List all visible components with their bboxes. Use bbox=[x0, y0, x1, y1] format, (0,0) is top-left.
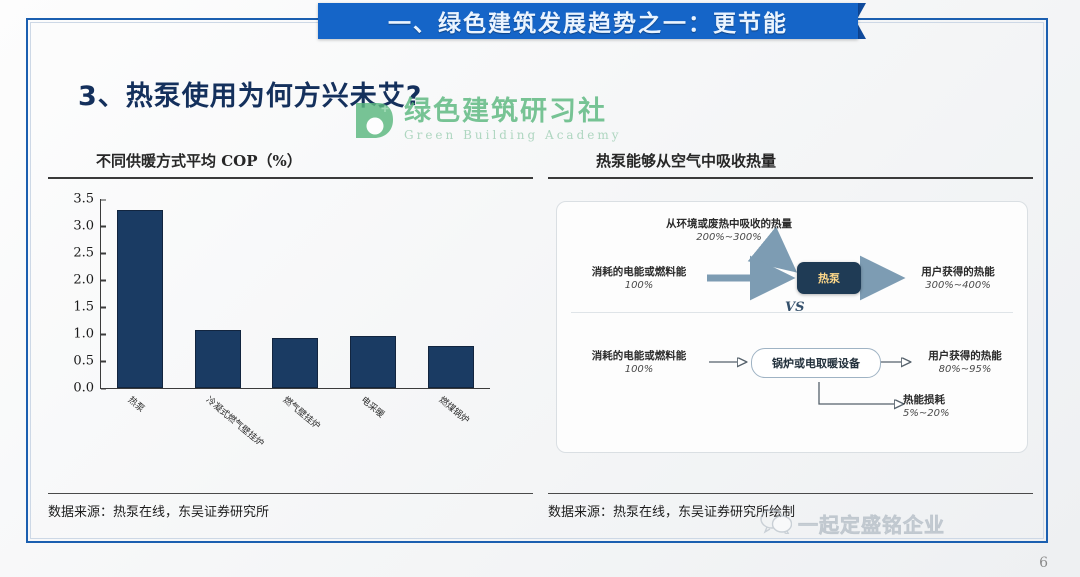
left-panel-footer: 数据来源：热泵在线，东吴证券研究所 bbox=[48, 487, 533, 520]
left-panel: 不同供暖方式平均 COP（%） 0.0 0.5 1.0 1.5 2.0 2.5 … bbox=[48, 150, 533, 520]
x-label-2: 燃气壁挂炉 bbox=[281, 393, 324, 432]
bar-燃气壁挂炉 bbox=[272, 338, 318, 388]
x-label-1: 冷凝式燃气壁挂炉 bbox=[203, 393, 267, 449]
right-source-note: 数据来源：热泵在线，东吴证券研究所绘制 bbox=[548, 501, 1033, 520]
right-panel-footer: 数据来源：热泵在线，东吴证券研究所绘制 bbox=[548, 487, 1033, 520]
page-number: 6 bbox=[1039, 555, 1048, 571]
chart-plot-area: 0.0 0.5 1.0 1.5 2.0 2.5 3.0 3.5 热泵 bbox=[100, 199, 490, 389]
x-label-4: 燃煤锅炉 bbox=[437, 393, 473, 426]
label-heatpump-input: 消耗的电能或燃料能 100% bbox=[569, 264, 709, 291]
x-label-3: 电采暖 bbox=[359, 393, 388, 420]
y-tick-6: 3.0 bbox=[73, 218, 101, 233]
y-tick-7: 3.5 bbox=[73, 192, 101, 207]
bar-电采暖 bbox=[350, 336, 396, 388]
right-panel-title: 热泵能够从空气中吸收热量 bbox=[596, 150, 1033, 171]
y-tick-2: 1.0 bbox=[73, 326, 101, 341]
left-panel-rule-bottom bbox=[48, 493, 533, 494]
vs-label: VS bbox=[785, 300, 804, 315]
label-boiler-loss: 热能损耗 5%~20% bbox=[903, 392, 1003, 419]
y-tick-5: 2.5 bbox=[73, 245, 101, 260]
section-heading: 3、热泵使用为何方兴未艾? bbox=[78, 74, 422, 113]
left-panel-title: 不同供暖方式平均 COP（%） bbox=[96, 150, 533, 171]
heatpump-diagram: 从环境或废热中吸收的热量 200%~300% 消耗的电能或燃料能 100% 热泵… bbox=[556, 201, 1028, 453]
label-heatpump-output: 用户获得的热能 300%~400% bbox=[895, 264, 1021, 291]
y-tick-0: 0.0 bbox=[73, 381, 101, 396]
bar-series: 热泵 冷凝式燃气壁挂炉 燃气壁挂炉 电采暖 bbox=[101, 199, 490, 388]
label-ambient-heat: 从环境或废热中吸收的热量 200%~300% bbox=[629, 216, 829, 243]
bar-热泵 bbox=[117, 210, 163, 388]
right-panel: 热泵能够从空气中吸收热量 bbox=[548, 150, 1033, 520]
right-panel-body: 从环境或废热中吸收的热量 200%~300% 消耗的电能或燃料能 100% 热泵… bbox=[548, 179, 1033, 475]
banner-title: 一、绿色建筑发展趋势之一：更节能 bbox=[388, 4, 788, 38]
y-tick-3: 1.5 bbox=[73, 299, 101, 314]
bar-group-1: 冷凝式燃气壁挂炉 bbox=[181, 199, 255, 388]
cop-bar-chart: 0.0 0.5 1.0 1.5 2.0 2.5 3.0 3.5 热泵 bbox=[48, 193, 533, 463]
slide-canvas: 一、绿色建筑发展趋势之一：更节能 3、热泵使用为何方兴未艾? 不同供暖方式平均 … bbox=[0, 0, 1080, 577]
left-panel-body: 0.0 0.5 1.0 1.5 2.0 2.5 3.0 3.5 热泵 bbox=[48, 179, 533, 475]
bar-冷凝式燃气壁挂炉 bbox=[195, 330, 241, 388]
left-source-note: 数据来源：热泵在线，东吴证券研究所 bbox=[48, 501, 533, 520]
y-tick-1: 0.5 bbox=[73, 353, 101, 368]
label-boiler-output: 用户获得的热能 80%~95% bbox=[909, 348, 1021, 375]
bar-group-0: 热泵 bbox=[103, 199, 177, 388]
bar-group-4: 燃煤锅炉 bbox=[414, 199, 488, 388]
right-panel-rule-bottom bbox=[548, 493, 1033, 494]
boiler-box: 锅炉或电取暖设备 bbox=[751, 348, 881, 378]
title-banner: 一、绿色建筑发展趋势之一：更节能 bbox=[318, 3, 858, 39]
heatpump-box: 热泵 bbox=[797, 262, 861, 294]
bar-group-2: 燃气壁挂炉 bbox=[259, 199, 333, 388]
bar-燃煤锅炉 bbox=[428, 346, 474, 388]
x-label-0: 热泵 bbox=[126, 393, 148, 415]
label-boiler-input: 消耗的电能或燃料能 100% bbox=[569, 348, 709, 375]
y-tick-4: 2.0 bbox=[73, 272, 101, 287]
bar-group-3: 电采暖 bbox=[336, 199, 410, 388]
